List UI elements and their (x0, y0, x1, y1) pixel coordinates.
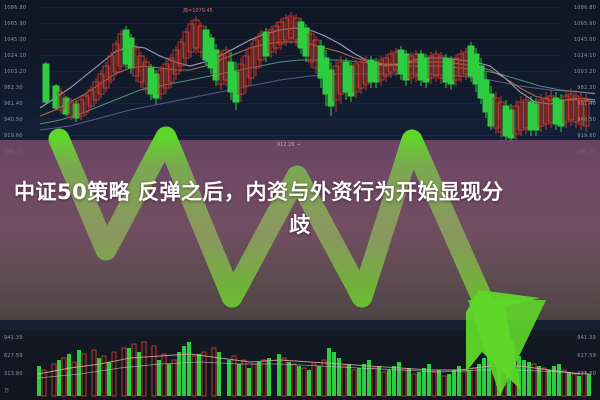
vol-axis-left-2: 313.80 (4, 371, 23, 377)
kline-series (0, 0, 600, 150)
top-axis-left-8: 919.60 (4, 133, 23, 139)
top-axis-left-6: 961.40 (4, 101, 23, 107)
high-annotation: 高=1079.45 (183, 7, 213, 14)
top-axis-right-1: 1065.90 (574, 21, 596, 27)
top-axis-right-5: 982.30 (577, 85, 596, 91)
top-axis-left-3: 1024.10 (4, 53, 26, 59)
vol-axis-right-0: 941.39 (577, 335, 596, 341)
top-axis-left-0: 1086.80 (4, 5, 26, 11)
headline-line-1: 中证50策略 反弹之后，内资与外资行为开始显现分 (14, 176, 586, 209)
top-axis-left-5: 982.30 (4, 85, 23, 91)
volume-chart: 941.39 627.59 313.80 万 941.39 627.59 313… (0, 330, 600, 400)
page-title: 中证50策略 反弹之后，内资与外资行为开始显现分 歧 (0, 176, 600, 241)
article-cover: 1086.80 1065.90 1045.00 1024.10 1003.20 … (0, 0, 600, 400)
vol-axis-left-1: 627.59 (4, 353, 23, 359)
candlestick-chart: 1086.80 1065.90 1045.00 1024.10 1003.20 … (0, 0, 600, 150)
vol-axis-left-0: 941.39 (4, 335, 23, 341)
top-axis-left-7: 940.50 (4, 117, 23, 123)
low-annotation: 912.26 → (277, 142, 300, 148)
vol-axis-right-1: 627.59 (577, 353, 596, 359)
top-axis-right-2: 1045.00 (574, 37, 596, 43)
top-axis-right-0: 1086.80 (574, 5, 596, 11)
top-axis-left-4: 1003.20 (4, 69, 26, 75)
top-axis-right-6: 961.40 (577, 101, 596, 107)
top-axis-right-7: 940.50 (577, 117, 596, 123)
top-axis-right-4: 1003.20 (574, 69, 596, 75)
top-axis-left-1: 1065.90 (4, 21, 26, 27)
top-axis-left-2: 1045.00 (4, 37, 26, 43)
top-axis-right-3: 1024.10 (574, 53, 596, 59)
top-axis-right-8: 919.60 (577, 133, 596, 139)
vol-axis-right-2: 313.80 (577, 371, 596, 377)
headline-line-2: 歧 (14, 209, 586, 242)
vol-unit-label: 万 (4, 387, 9, 394)
volume-series (0, 330, 600, 400)
